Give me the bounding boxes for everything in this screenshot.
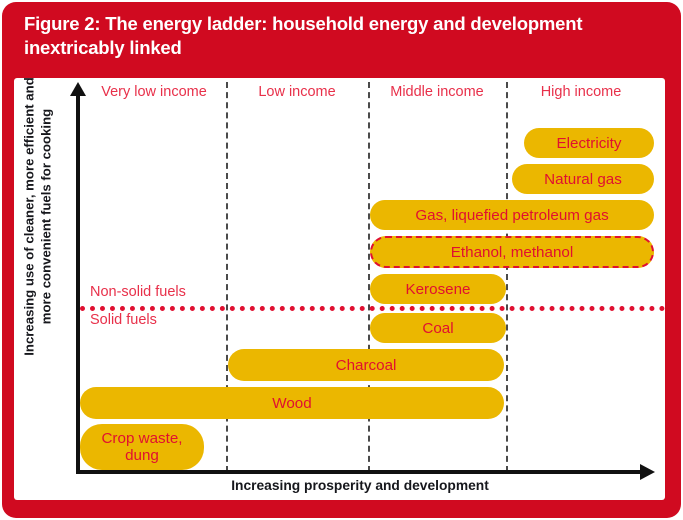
bar-coal[interactable]: Coal: [370, 313, 506, 343]
column-divider-3: [506, 82, 508, 472]
chart-panel: Very low income Low income Middle income…: [14, 78, 665, 500]
column-header-middle-income: Middle income: [368, 84, 506, 100]
page-title: Figure 2: The energy ladder: household e…: [24, 12, 659, 60]
bar-charcoal[interactable]: Charcoal: [228, 349, 504, 381]
bar-kerosene[interactable]: Kerosene: [370, 274, 506, 304]
figure-container: Figure 2: The energy ladder: household e…: [0, 0, 683, 520]
bar-crop-waste-dung[interactable]: Crop waste, dung: [80, 424, 204, 470]
y-axis-arrow-icon: [70, 82, 86, 96]
y-axis-line: [76, 94, 80, 472]
y-axis-title: Increasing use of cleaner, more efficien…: [22, 78, 55, 387]
bar-electricity[interactable]: Electricity: [524, 128, 654, 158]
x-axis-line: [76, 470, 644, 474]
bar-ethanol-methanol[interactable]: Ethanol, methanol: [370, 236, 654, 268]
column-header-low-income: Low income: [226, 84, 368, 100]
bar-gas-liquefied-petroleum-gas[interactable]: Gas, liquefied petroleum gas: [370, 200, 654, 230]
column-header-high-income: High income: [506, 84, 656, 100]
non-solid-fuels-label: Non-solid fuels: [90, 284, 186, 300]
solid-nonsolid-separator: [80, 306, 665, 311]
bar-natural-gas[interactable]: Natural gas: [512, 164, 654, 194]
solid-fuels-label: Solid fuels: [90, 312, 157, 328]
figure-title-band: Figure 2: The energy ladder: household e…: [2, 2, 681, 66]
column-header-very-low-income: Very low income: [82, 84, 226, 100]
bar-wood[interactable]: Wood: [80, 387, 504, 419]
x-axis-title: Increasing prosperity and development: [76, 478, 644, 493]
